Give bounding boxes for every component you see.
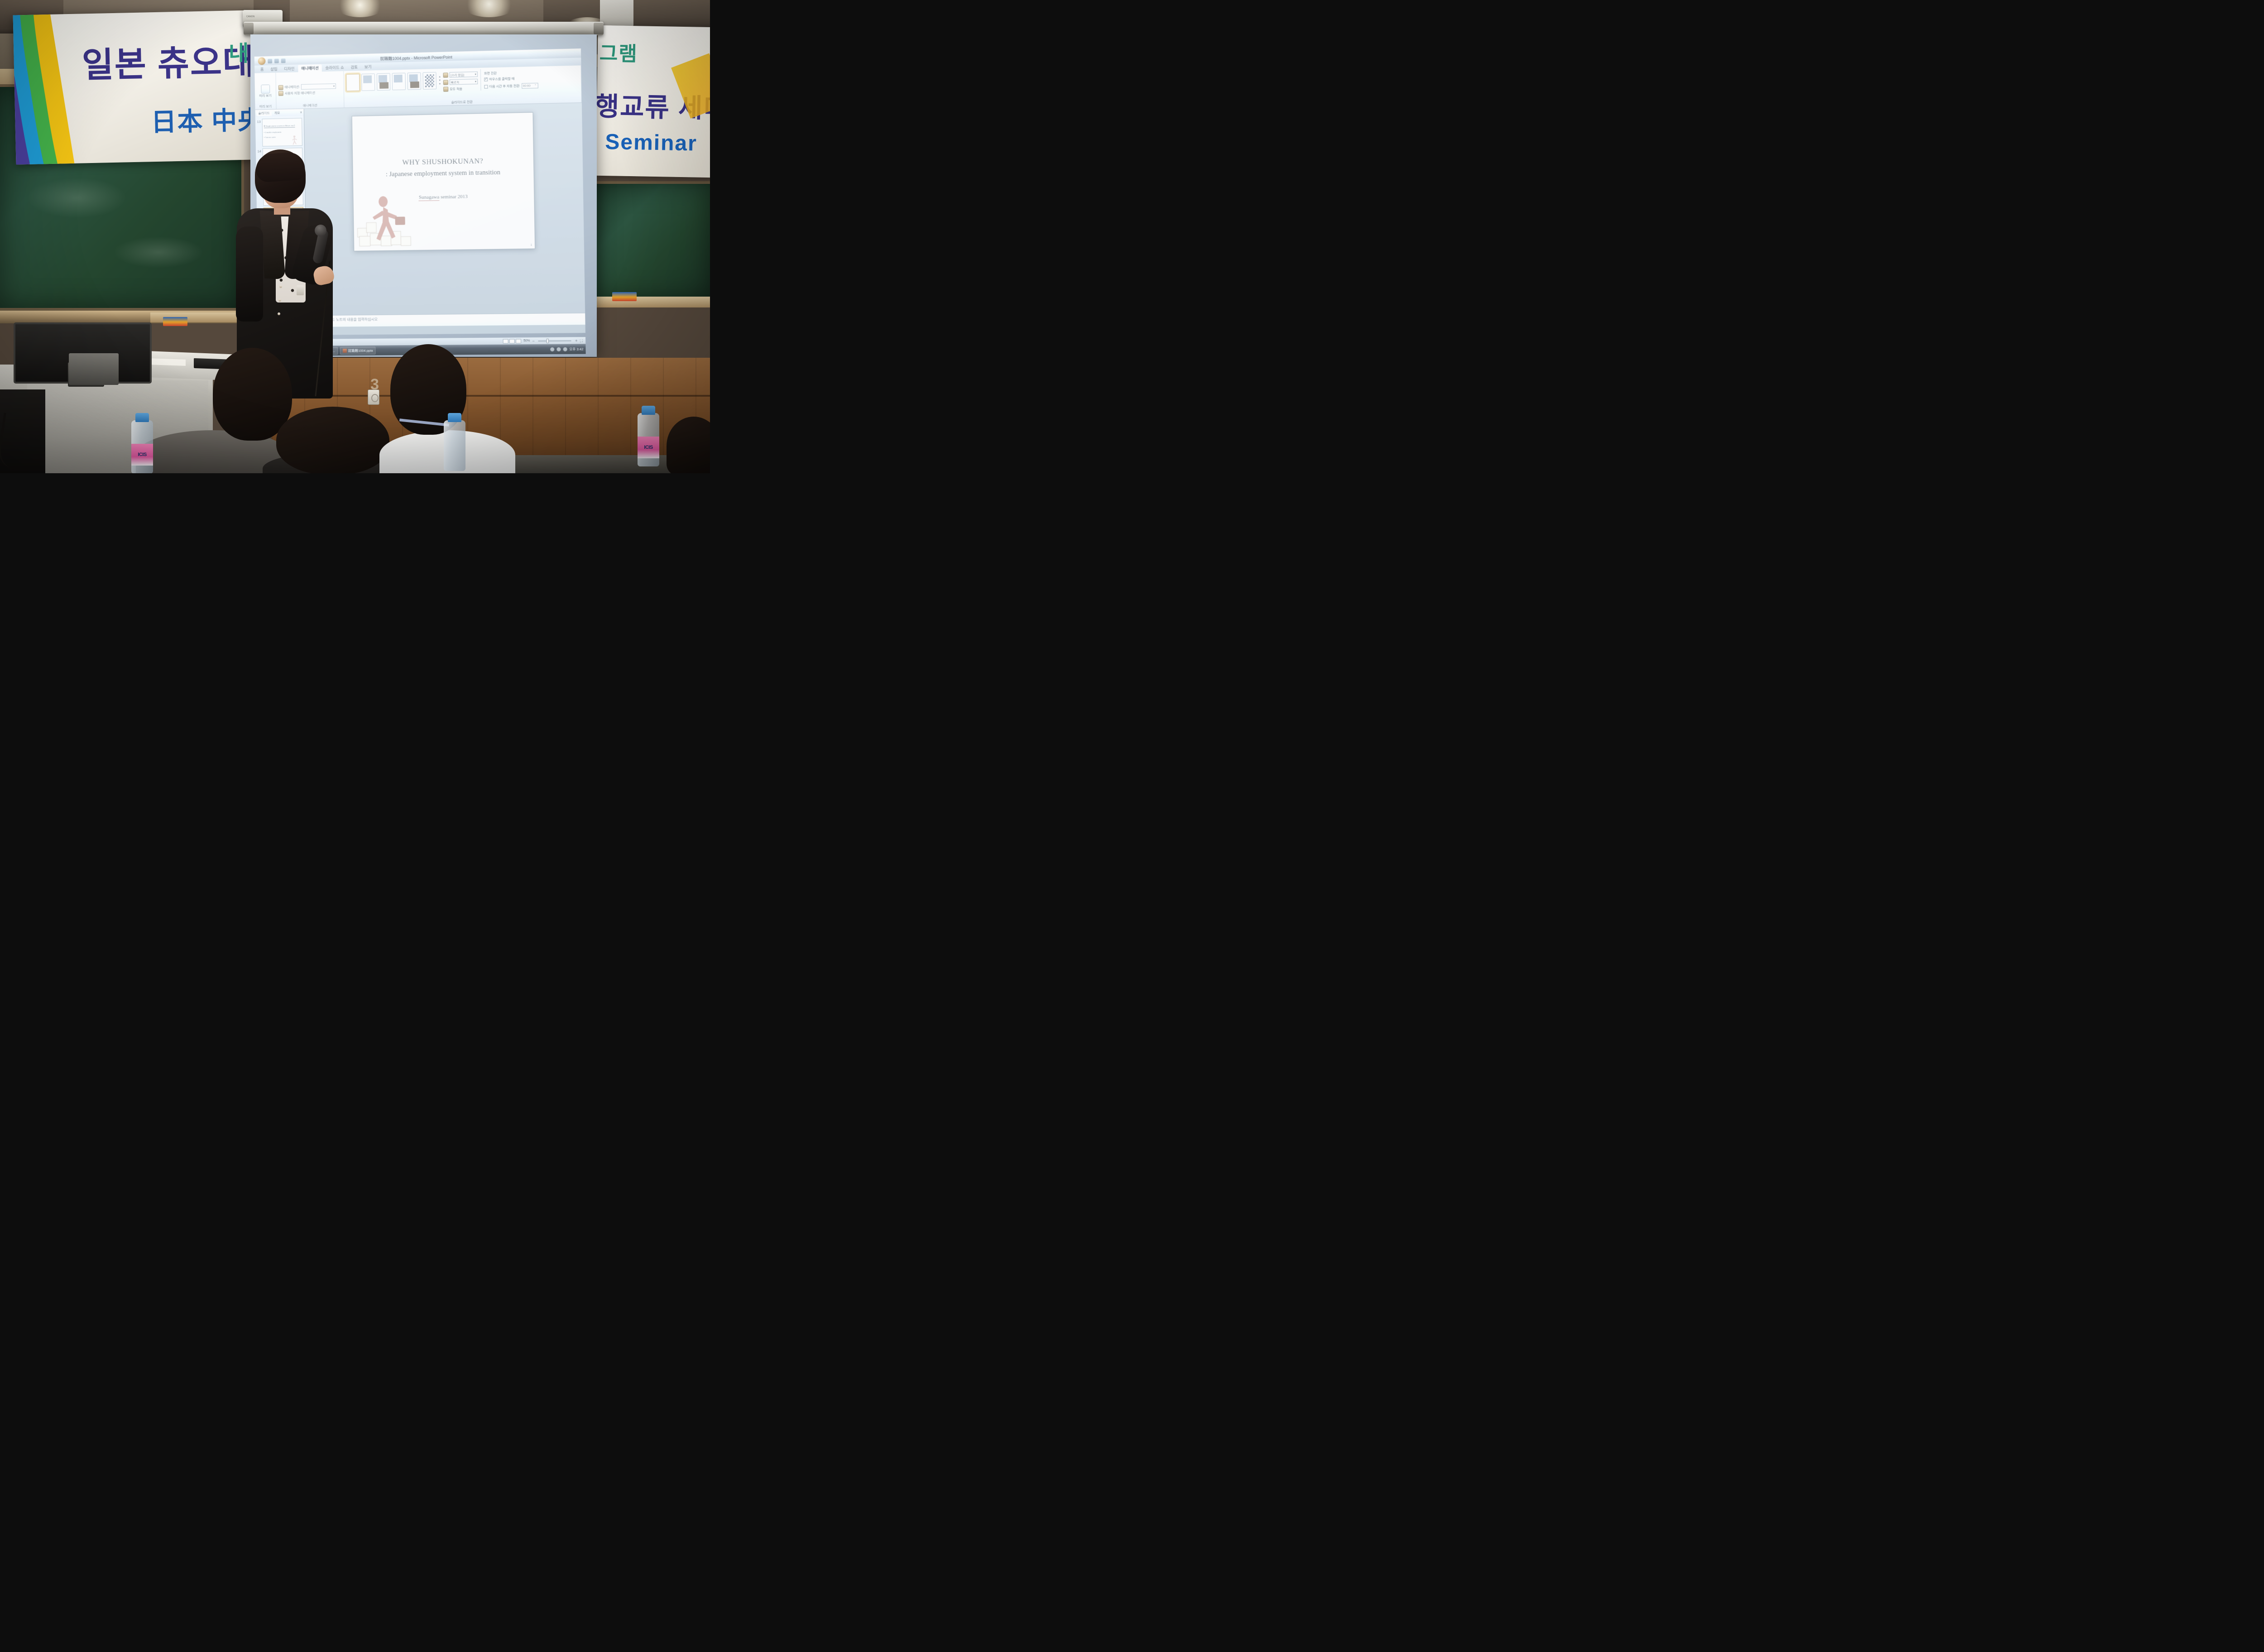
- sound-icon: [443, 72, 448, 77]
- network-icon[interactable]: [563, 347, 567, 351]
- advance-slide-options: 화면 전환 마우스를 클릭할 때 다음 시간 후 자동 전환: 00:0: [480, 68, 538, 91]
- ribbon-group-animations-label: 애니메이션: [276, 103, 344, 109]
- zoom-slider-handle[interactable]: [547, 338, 549, 343]
- slide-seminar-year: seminar 2013: [439, 194, 468, 200]
- language-icon[interactable]: [550, 347, 554, 351]
- transition-gallery[interactable]: ▴ ▾ ▾: [346, 70, 441, 91]
- zoom-level: 50%: [523, 339, 530, 342]
- advance-after-time-spinner[interactable]: 00:00 ⌃: [522, 83, 538, 89]
- transition-speed-value: 빠르게: [451, 80, 459, 84]
- preview-play-icon: [261, 84, 270, 93]
- taskbar-clock[interactable]: 오후 3:42: [569, 346, 583, 351]
- banner-left: 일본 츄오대 日本 中央: [13, 10, 256, 164]
- advance-on-click-label: 마우스를 클릭할 때: [489, 77, 514, 82]
- transition-cut[interactable]: [392, 73, 406, 91]
- ribbon-group-transition: ▴ ▾ ▾ [소리 없음] ▾: [344, 65, 582, 107]
- chevron-down-icon: ▾: [475, 80, 476, 83]
- ribbon-group-preview: 미리 보기 미리 보기: [254, 72, 276, 109]
- apply-all-icon: [443, 86, 448, 91]
- walking-figure-icon: [291, 135, 298, 145]
- presenter-left-arm: [236, 226, 263, 322]
- advance-after-time-checkbox[interactable]: [484, 85, 488, 88]
- spinner-arrows-icon[interactable]: ⌃: [534, 84, 537, 87]
- thumbnail-item[interactable]: 13 Ⅲ Employment system in Heisei era② ▪ …: [255, 116, 304, 147]
- water-bottle-left: ICIS: [131, 420, 153, 473]
- ribbon-group-preview-label: 미리 보기: [255, 104, 276, 109]
- speed-icon: [443, 80, 448, 85]
- ribbon[interactable]: 미리 보기 미리 보기 애니메이션: ▾: [254, 65, 582, 110]
- undo-icon[interactable]: [274, 58, 279, 63]
- transition-none[interactable]: [346, 74, 360, 91]
- transition-cut-through-black[interactable]: [407, 72, 421, 90]
- zoom-in-button[interactable]: +: [575, 339, 577, 342]
- custom-animation-icon: [278, 91, 283, 96]
- animate-label: 애니메이션:: [284, 85, 300, 90]
- power-outlet: [368, 389, 379, 405]
- wall-speaker-box: [600, 0, 633, 27]
- reading-view-icon[interactable]: [516, 339, 521, 343]
- pane-tab-slides[interactable]: 슬라이드: [256, 110, 271, 116]
- custom-animation-label: 사용자 지정 애니메이션: [285, 91, 315, 96]
- taskbar-item-label: 就職難1004.pptx: [348, 348, 373, 353]
- tab-animations[interactable]: 애니메이션: [298, 64, 322, 72]
- chalk-ledge-right: [593, 297, 710, 307]
- shelf-book: [612, 292, 637, 301]
- pane-tab-outline[interactable]: 개요: [273, 110, 282, 115]
- window-title: 就職難1004.pptx - Microsoft PowerPoint: [380, 54, 452, 62]
- save-icon[interactable]: [268, 58, 272, 63]
- transition-sound-value: [소리 없음]: [451, 72, 465, 77]
- system-tray[interactable]: 오후 3:42: [550, 346, 584, 352]
- bottle-cap: [448, 413, 461, 422]
- bottle-cap: [135, 413, 149, 422]
- slide-sorter-icon[interactable]: [509, 339, 515, 343]
- fit-to-window-icon[interactable]: ⛶: [580, 339, 583, 342]
- view-buttons[interactable]: [503, 339, 522, 343]
- chalkboard-right: [591, 181, 710, 303]
- bottle-label: ICIS: [131, 444, 153, 466]
- thumbnail-title: Ⅲ Employment system in Heisei era②: [264, 125, 295, 128]
- close-icon[interactable]: ✕: [300, 110, 302, 114]
- pane-tab-strip[interactable]: 슬라이드 개요 ✕: [255, 109, 304, 116]
- jacket-button: [278, 312, 280, 315]
- presenter-hair-fringe: [255, 151, 306, 182]
- apply-to-all-label: 모두 적용: [450, 86, 462, 91]
- animate-icon: [278, 85, 283, 90]
- tab-home[interactable]: 홈: [257, 66, 267, 73]
- scroll-down-icon[interactable]: ▾: [439, 79, 441, 82]
- bottle-brand-name: ICIS: [644, 445, 652, 450]
- transition-sound-row[interactable]: [소리 없음] ▾: [443, 72, 478, 78]
- thumbnail-number: 13: [257, 119, 261, 124]
- office-orb-icon[interactable]: [258, 57, 266, 65]
- transition-dissolve[interactable]: [422, 72, 436, 90]
- bottle-cap: [642, 406, 655, 415]
- transition-speed-row[interactable]: 빠르게 ▾: [443, 79, 478, 85]
- preview-button[interactable]: 미리 보기: [257, 84, 273, 98]
- chevron-down-icon: ▾: [333, 84, 335, 88]
- audience-head-left: [213, 348, 292, 441]
- normal-view-icon[interactable]: [503, 339, 508, 343]
- advance-after-time-row[interactable]: 다음 시간 후 자동 전환: 00:00 ⌃: [484, 83, 538, 90]
- thumbnail-bullet-text: Various career: [265, 136, 276, 138]
- thumbnail-bullet: ▪ Unstable employment: [264, 130, 301, 134]
- thumbnail-bullet-text: Unstable employment: [265, 131, 281, 134]
- ribbon-group-animations: 애니메이션: ▾ 사용자 지정 애니메이션 애니메이션: [276, 71, 344, 109]
- roller-end-right: [594, 23, 604, 34]
- transition-sound-combo[interactable]: [소리 없음] ▾: [450, 72, 478, 77]
- gallery-more-icon[interactable]: ▾: [439, 83, 441, 86]
- notes-pane[interactable]: 여기에 슬라이드 노트의 내용을 입력하십시오: [307, 313, 585, 327]
- banner-swoosh-left: [13, 10, 167, 164]
- chevron-down-icon: ▾: [475, 72, 476, 76]
- audience-head-center: [276, 407, 389, 473]
- roller-end-left: [244, 23, 254, 34]
- advance-on-click-checkbox[interactable]: [484, 77, 488, 81]
- quick-access-toolbar[interactable]: [258, 57, 286, 65]
- slide-subtitle: : Japanese employment system in transiti…: [353, 168, 534, 179]
- tab-slideshow[interactable]: 슬라이드 쇼: [322, 64, 347, 72]
- water-bottle-center: [444, 420, 465, 471]
- bottle-brand-name: ICIS: [138, 452, 146, 457]
- animate-row[interactable]: 애니메이션: ▾: [278, 83, 341, 90]
- advance-heading: 화면 전환: [484, 70, 538, 76]
- volume-icon[interactable]: [556, 347, 561, 351]
- preview-button-label: 미리 보기: [259, 94, 271, 98]
- gallery-scroll-buttons[interactable]: ▴ ▾ ▾: [439, 76, 441, 86]
- transition-options: [소리 없음] ▾ 빠르게 ▾: [443, 69, 478, 93]
- lecture-hall-scene: 일본 츄오대 日本 中央 내 그램 행교류 세미 Seminar CANON: [0, 0, 710, 473]
- screen-roller[interactable]: [244, 22, 604, 35]
- tab-design[interactable]: 디자인: [281, 65, 297, 72]
- slide-page-number: 1: [531, 244, 532, 247]
- transition-fade-smoothly[interactable]: [361, 73, 375, 91]
- name-badge: [297, 285, 304, 295]
- tab-view[interactable]: 보기: [361, 63, 375, 71]
- transition-speed-combo[interactable]: 빠르게 ▾: [450, 79, 478, 85]
- chalk-smudge: [113, 236, 204, 268]
- slide-title: WHY SHUSHOKUNAN?: [353, 156, 533, 168]
- banner-right-program: 그램: [599, 37, 638, 67]
- advance-on-click-row[interactable]: 마우스를 클릭할 때: [484, 76, 538, 82]
- transition-fade-through-black[interactable]: [377, 73, 390, 91]
- control-panel[interactable]: [69, 353, 119, 385]
- custom-animation-button[interactable]: 사용자 지정 애니메이션: [278, 90, 341, 96]
- slide-artwork: [356, 194, 424, 249]
- tab-insert[interactable]: 삽입: [267, 65, 280, 73]
- banner-right-english: Seminar: [605, 130, 697, 156]
- apply-to-all-button[interactable]: 모두 적용: [443, 86, 478, 92]
- zoom-out-button[interactable]: −: [532, 339, 534, 343]
- jacket-button: [279, 285, 282, 288]
- animate-combo[interactable]: ▾: [301, 83, 336, 90]
- banner-center-partial: 내: [229, 35, 249, 67]
- thumbnail-card[interactable]: Ⅲ Employment system in Heisei era② ▪ Uns…: [262, 118, 302, 146]
- tab-review[interactable]: 검토: [347, 63, 361, 71]
- current-slide[interactable]: WHY SHUSHOKUNAN? : Japanese employment s…: [352, 112, 536, 251]
- projector-brand-label: CANON: [246, 15, 254, 18]
- water-bottle-right: ICIS: [638, 413, 659, 466]
- redo-icon[interactable]: [281, 58, 286, 63]
- banner-right: 그램 행교류 세미 Seminar: [595, 25, 710, 178]
- chalk-smudge: [27, 178, 127, 218]
- advance-after-time-value: 00:00: [523, 84, 531, 87]
- jacket-button: [278, 299, 281, 302]
- zoom-slider[interactable]: [538, 340, 571, 341]
- bottle-label: ICIS: [638, 437, 659, 458]
- banner-left-japanese: 日本 中央: [151, 100, 256, 139]
- scroll-up-icon[interactable]: ▴: [439, 76, 441, 78]
- shelf-book: [163, 317, 187, 326]
- advance-after-time-label: 다음 시간 후 자동 전환:: [489, 84, 520, 89]
